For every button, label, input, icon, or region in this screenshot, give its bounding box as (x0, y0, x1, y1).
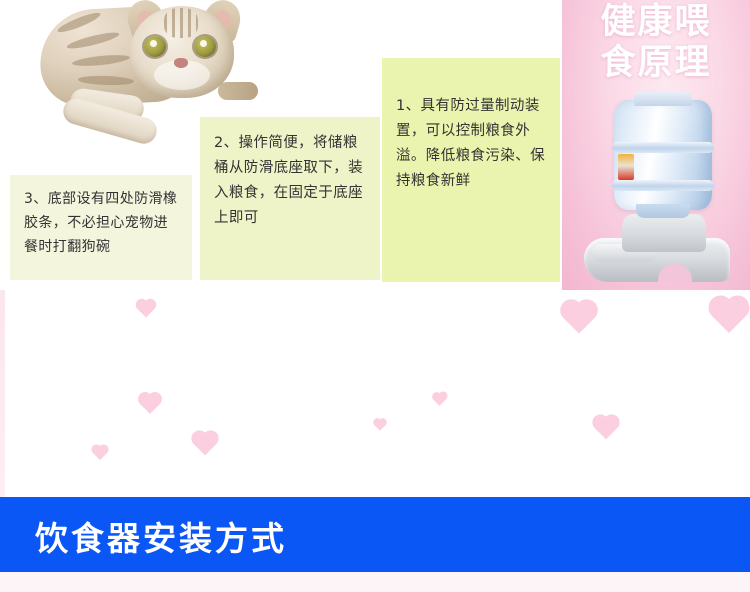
kitten-eye-right (194, 36, 216, 57)
heart-decoration (563, 302, 594, 333)
heart-decoration (93, 446, 107, 460)
bottom-strip (0, 572, 750, 592)
dispenser-ring-lower (612, 180, 714, 191)
feature-box-2: 2、操作简便，将储粮桶从防滑底座取下，装入粮食，在固定于底座上即可 (200, 117, 380, 280)
kitten-eye-left (144, 36, 166, 57)
dispenser-cap (634, 92, 692, 106)
product-detail-page: 3、底部设有四处防滑橡胶条，不必担心宠物进餐时打翻狗碗 2、操作简便，将储粮桶从… (0, 0, 750, 592)
feature-box-3-text: 3、底部设有四处防滑橡胶条，不必担心宠物进餐时打翻狗碗 (24, 187, 178, 259)
right-pink-panel: 健康喂 食原理 (562, 0, 750, 290)
section-banner-title: 饮食器安装方式 (35, 512, 287, 560)
right-panel-title: 健康喂 食原理 (562, 2, 750, 85)
heart-decoration (140, 394, 160, 414)
heart-decoration (374, 419, 385, 430)
dispenser-product-image (584, 92, 734, 287)
heart-decoration (433, 393, 446, 406)
dispenser-neck (636, 204, 690, 218)
kitten-forehead-stripes (164, 8, 198, 38)
feature-box-1-text: 1、具有防过量制动装置，可以控制粮食外溢。降低粮食污染、保持粮食新鲜 (396, 94, 546, 194)
dispenser-base (622, 214, 706, 252)
kitten-nose (174, 58, 188, 68)
heart-decoration (595, 417, 618, 440)
slogan-section: 满足宠物每日进食需求 宠物独自在家也不会饥饿 消耗多少自动补充多少 不要让你的宝… (5, 290, 750, 497)
dispenser-ring-upper (612, 142, 714, 153)
heart-decoration (138, 301, 155, 318)
right-panel-title-line1: 健康喂 (562, 2, 750, 43)
feature-box-1: 1、具有防过量制动装置，可以控制粮食外溢。降低粮食污染、保持粮食新鲜 (382, 58, 560, 282)
top-feature-section: 3、底部设有四处防滑橡胶条，不必担心宠物进餐时打翻狗碗 2、操作简便，将储粮桶从… (0, 0, 750, 290)
heart-decoration (712, 299, 746, 333)
kitten-tail (218, 82, 258, 100)
dispenser-label (618, 154, 634, 180)
section-banner: 饮食器安装方式 (0, 497, 750, 572)
right-panel-title-line2: 食原理 (562, 43, 750, 84)
feature-box-2-text: 2、操作简便，将储粮桶从防滑底座取下，装入粮食，在固定于底座上即可 (214, 131, 366, 231)
heart-decoration (194, 433, 217, 456)
feature-box-3: 3、底部设有四处防滑橡胶条，不必担心宠物进餐时打翻狗碗 (10, 175, 192, 280)
